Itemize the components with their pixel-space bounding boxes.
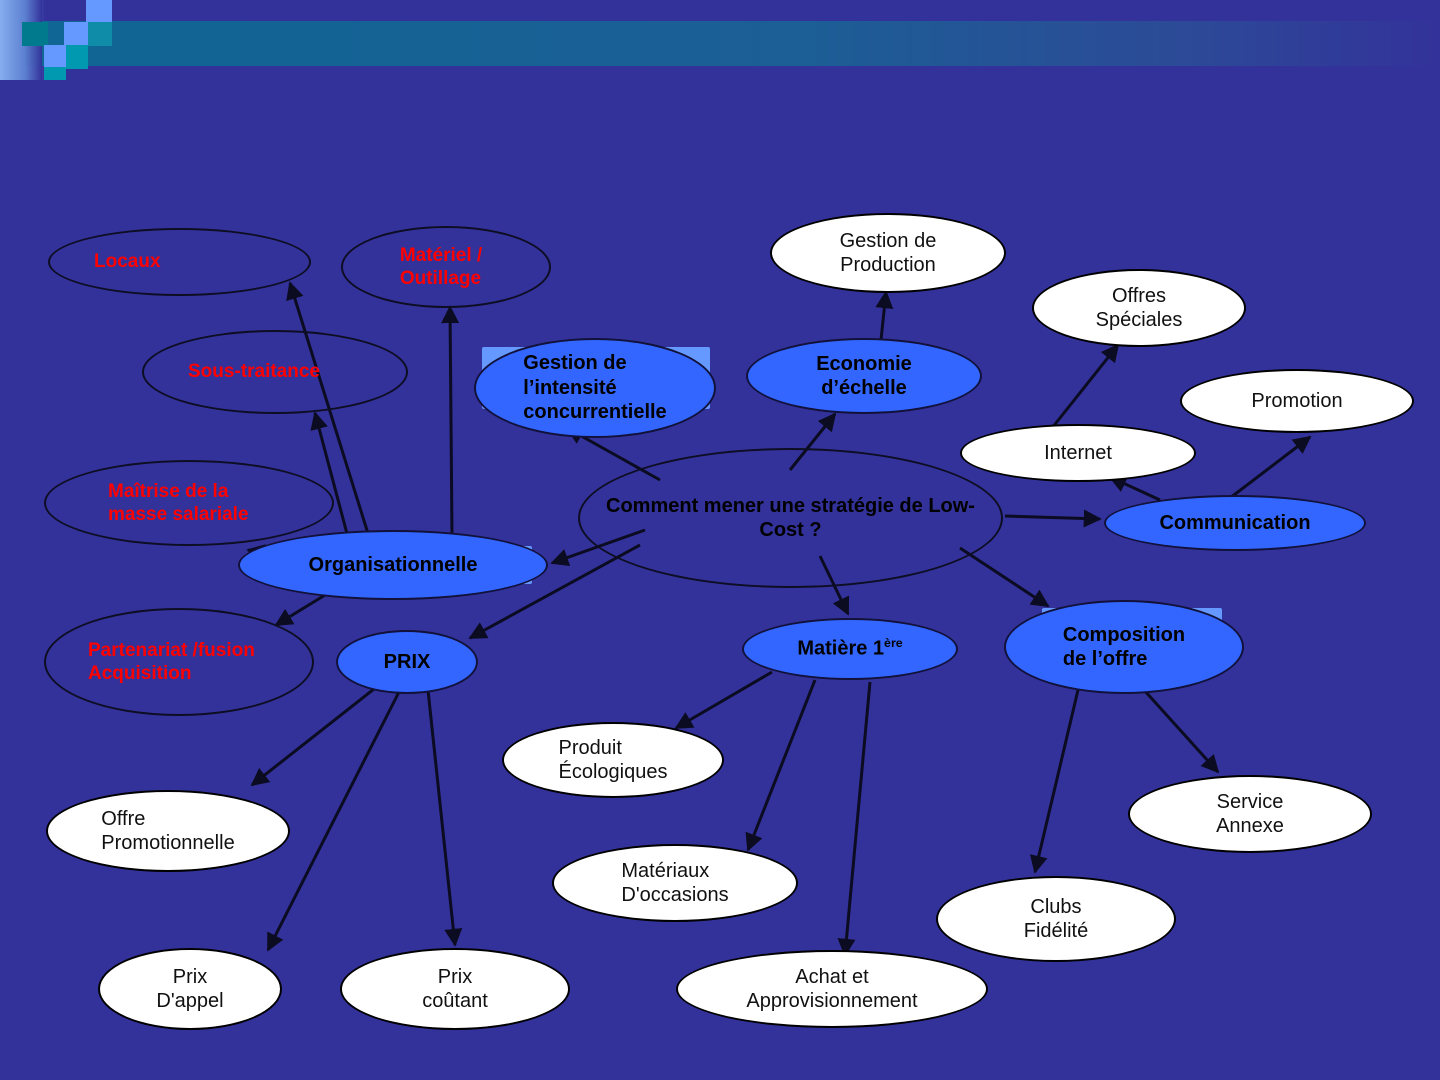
node-prix-coutant[interactable]: Prix coûtant xyxy=(340,948,570,1030)
node-label-line1: Maîtrise de la xyxy=(108,481,228,502)
edge-matiere-achat xyxy=(845,682,870,955)
edge-matiere-materiaux xyxy=(748,680,815,850)
node-center-question[interactable]: Comment mener une stratégie de Low-Cost … xyxy=(578,448,1003,588)
node-label-line2: Écologiques xyxy=(559,761,668,783)
node-label-line1: Clubs xyxy=(1030,896,1081,918)
node-label-line1: Composition xyxy=(1063,624,1185,646)
node-economie-echelle[interactable]: Economie d’échelle xyxy=(746,338,982,414)
node-clubs-fidelite[interactable]: Clubs Fidélité xyxy=(936,876,1176,962)
node-partenariat-fusion-acquisition[interactable]: Partenariat /fusion Acquisition xyxy=(44,608,314,716)
node-achat-approvisionnement[interactable]: Achat et Approvisionnement xyxy=(676,950,988,1028)
node-label-line1: Offres xyxy=(1112,285,1166,307)
node-locaux[interactable]: Locaux xyxy=(48,228,311,296)
edge-matiere-produit-eco xyxy=(676,672,772,728)
node-label: Comment mener une stratégie de Low-Cost … xyxy=(580,494,1001,543)
edge-orga-materiel xyxy=(450,307,452,536)
node-organisationnelle[interactable]: Organisationnelle xyxy=(238,530,548,600)
node-label-line2: D'appel xyxy=(156,990,223,1012)
node-offres-speciales[interactable]: Offres Spéciales xyxy=(1032,269,1246,347)
edge-communication-internet xyxy=(1110,477,1160,500)
edge-communication-promotion xyxy=(1230,437,1310,498)
node-label: Sous-traitance xyxy=(144,360,330,383)
node-label-line2: Acquisition xyxy=(88,663,191,684)
edge-prix-prix-appel xyxy=(268,690,400,950)
edge-center-composition xyxy=(960,548,1048,606)
node-label-line2: de l’offre xyxy=(1063,648,1147,670)
node-label-line2: D'occasions xyxy=(621,884,728,906)
node-maitrise-masse-salariale[interactable]: Maîtrise de la masse salariale xyxy=(44,460,334,546)
node-label-line1: Prix xyxy=(438,966,472,988)
node-promotion[interactable]: Promotion xyxy=(1180,369,1414,433)
edge-center-communication xyxy=(1005,516,1100,519)
node-materiel-outillage[interactable]: Matériel / Outillage xyxy=(341,226,551,308)
node-label-line2: Spéciales xyxy=(1096,309,1183,331)
node-label-line1: Gestion de xyxy=(523,352,626,374)
node-gestion-intensite-concurrentielle[interactable]: Gestion de l’intensité concurrentielle xyxy=(474,338,716,438)
node-prix[interactable]: PRIX xyxy=(336,630,478,694)
node-label: Internet xyxy=(1034,441,1122,465)
node-label-line1: Prix xyxy=(173,966,207,988)
node-label: Promotion xyxy=(1241,389,1352,413)
node-label: Matière 1 xyxy=(797,638,884,660)
node-label: Organisationnelle xyxy=(299,553,488,577)
node-label-line1: Partenariat /fusion xyxy=(88,640,255,661)
node-label-line2: Outillage xyxy=(400,268,481,289)
edge-prix-prix-coutant xyxy=(428,690,455,945)
node-label-line1: Matériel / xyxy=(400,245,482,266)
slide-canvas: Locaux Matériel / Outillage Sous-traitan… xyxy=(0,0,1440,1080)
node-internet[interactable]: Internet xyxy=(960,424,1196,482)
node-label: PRIX xyxy=(374,650,441,674)
node-matiere-premiere[interactable]: Matière 1ère xyxy=(742,618,958,680)
node-label-line2: Production xyxy=(840,254,936,276)
node-label-line2: Fidélité xyxy=(1024,920,1088,942)
edge-internet-offres xyxy=(1052,345,1118,428)
node-prix-appel[interactable]: Prix D'appel xyxy=(98,948,282,1030)
node-label-line1: Produit xyxy=(559,737,622,759)
node-label-line2: Approvisionnement xyxy=(746,990,917,1012)
node-label-line2: coûtant xyxy=(422,990,488,1012)
node-label-line1: Gestion de xyxy=(840,230,937,252)
edge-composition-service xyxy=(1135,680,1218,772)
node-label: Communication xyxy=(1149,511,1320,535)
node-label-line1: Achat et xyxy=(795,966,868,988)
node-label-line2: Promotionnelle xyxy=(101,832,234,854)
node-materiaux-occasions[interactable]: Matériaux D'occasions xyxy=(552,844,798,922)
node-label-line1: Matériaux xyxy=(621,860,709,882)
node-gestion-production[interactable]: Gestion de Production xyxy=(770,213,1006,293)
node-label-line2: Annexe xyxy=(1216,815,1284,837)
edge-economie-production xyxy=(881,292,886,340)
node-service-annexe[interactable]: Service Annexe xyxy=(1128,775,1372,853)
node-produit-ecologiques[interactable]: Produit Écologiques xyxy=(502,722,724,798)
node-label: Locaux xyxy=(50,250,171,273)
node-label-line2: d’échelle xyxy=(821,377,907,399)
node-composition-offre[interactable]: Composition de l’offre xyxy=(1004,600,1244,694)
node-label-line1: Service xyxy=(1217,791,1284,813)
node-communication[interactable]: Communication xyxy=(1104,495,1366,551)
node-label-line1: Economie xyxy=(816,353,912,375)
edge-orga-partenariat xyxy=(276,592,330,625)
node-offre-promotionnelle[interactable]: Offre Promotionnelle xyxy=(46,790,290,872)
node-sous-traitance[interactable]: Sous-traitance xyxy=(142,330,408,414)
node-label-superscript: ère xyxy=(884,636,903,650)
node-label-line2: masse salariale xyxy=(108,504,249,525)
edge-composition-clubs xyxy=(1035,690,1078,872)
node-label-line2: l’intensité xyxy=(523,377,616,399)
edge-orga-soustraitance xyxy=(315,413,350,545)
node-label-line3: concurrentielle xyxy=(523,401,666,423)
node-label-line1: Offre xyxy=(101,808,145,830)
